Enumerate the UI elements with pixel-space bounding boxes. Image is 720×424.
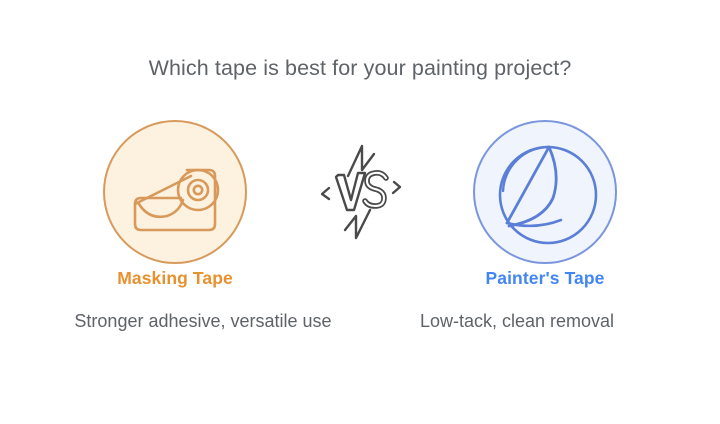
option-descriptions-row: Stronger adhesive, versatile use Low-tac… bbox=[0, 308, 720, 334]
option-description-painters-tape: Low-tack, clean removal bbox=[364, 308, 670, 334]
tape-roll-icon bbox=[465, 112, 625, 272]
option-label-painters-tape: Painter's Tape bbox=[425, 268, 665, 289]
option-masking-tape-icon-cell bbox=[55, 112, 295, 272]
labels-spacer bbox=[295, 268, 425, 289]
option-label-masking-tape: Masking Tape bbox=[55, 268, 295, 289]
vs-badge-cell: VS bbox=[295, 140, 425, 244]
tape-dispenser-icon bbox=[95, 112, 255, 272]
option-description-masking-tape: Stronger adhesive, versatile use bbox=[50, 308, 356, 334]
option-labels-row: Masking Tape Painter's Tape bbox=[0, 268, 720, 289]
tape-comparison-infographic: Which tape is best for your painting pro… bbox=[0, 0, 720, 424]
page-title: Which tape is best for your painting pro… bbox=[0, 56, 720, 81]
vs-lightning-badge-icon: VS bbox=[312, 140, 408, 244]
comparison-row: VS bbox=[0, 112, 720, 272]
option-painters-tape-icon-cell bbox=[425, 112, 665, 272]
